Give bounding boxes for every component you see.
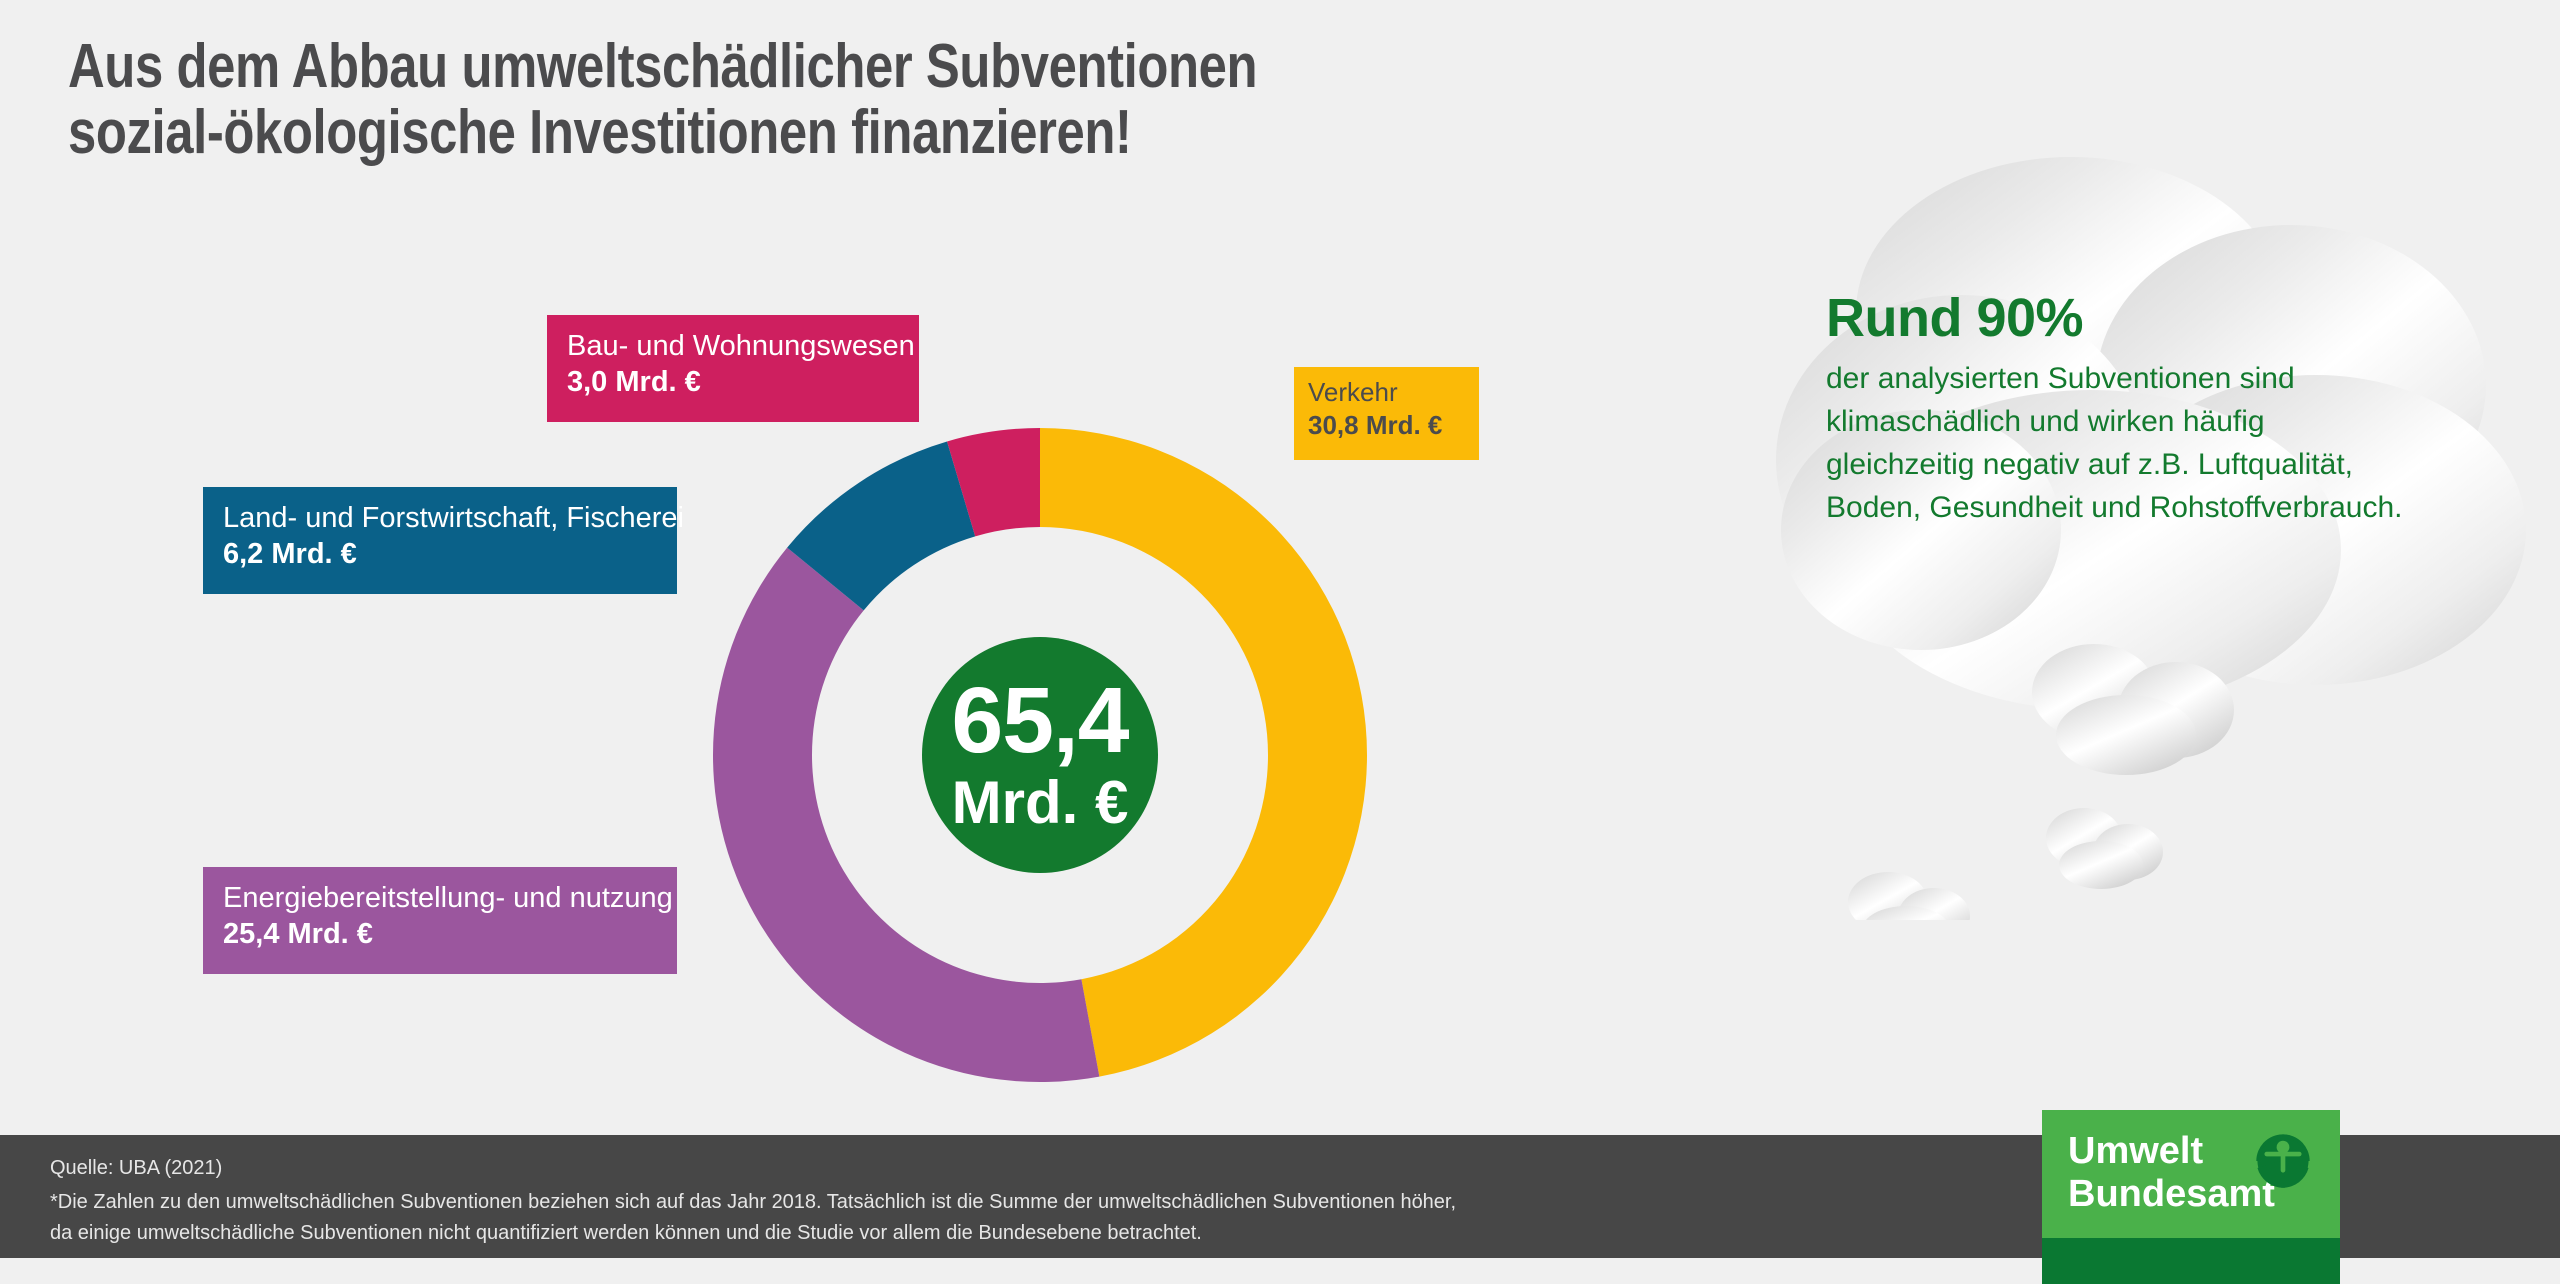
donut-chart: 65,4 Mrd. € — [700, 415, 1380, 1095]
bubble-body-line-2: klimaschädlich und wirken häufig — [1826, 400, 2436, 443]
thought-bubble-trail-cloud-3 — [1848, 872, 1970, 920]
legend-value-bau: 3,0 Mrd. € — [567, 365, 899, 399]
legend-value-verkehr: 30,8 Mrd. € — [1308, 410, 1465, 441]
bubble-body-line-3: gleichzeitig negativ auf z.B. Luftqualit… — [1826, 443, 2436, 486]
title-line-1: Aus dem Abbau umweltschädlicher Subventi… — [68, 34, 1478, 100]
legend-item-land-und-forstwirtschaft: Land- und Forstwirtschaft, Fischerei 6,2… — [203, 487, 677, 594]
bubble-body-line-1: der analysierten Subventionen sind — [1826, 357, 2436, 400]
bubble-headline: Rund 90% — [1826, 290, 2436, 347]
legend-label-verkehr: Verkehr — [1308, 377, 1465, 408]
bubble-body-line-4: Boden, Gesundheit und Rohstoffverbrauch. — [1826, 486, 2436, 529]
footer-note-line-2: da einige umweltschädliche Subventionen … — [50, 1218, 1456, 1250]
infographic-canvas: Aus dem Abbau umweltschädlicher Subventi… — [0, 0, 2560, 1284]
donut-chart-svg — [700, 415, 1380, 1095]
legend-value-land: 6,2 Mrd. € — [223, 537, 657, 571]
legend-value-energie: 25,4 Mrd. € — [223, 917, 657, 951]
legend-item-energiebereitstellung: Energiebereitstellung- und nutzung 25,4 … — [203, 867, 677, 974]
footer-source-note: Quelle: UBA (2021) *Die Zahlen zu den um… — [50, 1153, 1456, 1250]
thought-bubble-text: Rund 90% der analysierten Subventionen s… — [1826, 290, 2436, 529]
donut-center-circle — [922, 637, 1158, 873]
bubble-body: der analysierten Subventionen sind klima… — [1826, 357, 2436, 530]
umweltbundesamt-logo[interactable]: Umwelt Bundesamt — [2042, 1110, 2340, 1284]
thought-bubble-trail-cloud-2 — [2046, 808, 2163, 889]
legend-label-land: Land- und Forstwirtschaft, Fischerei — [223, 501, 657, 535]
logo-line-2: Bundesamt — [2068, 1173, 2275, 1216]
title-line-2: sozial-ökologische Investitionen finanzi… — [68, 100, 1478, 166]
footer-note-line-1: *Die Zahlen zu den umweltschädlichen Sub… — [50, 1187, 1456, 1219]
legend-item-bau-und-wohnungswesen: Bau- und Wohnungswesen 3,0 Mrd. € — [547, 315, 919, 422]
legend-item-verkehr: Verkehr 30,8 Mrd. € — [1294, 367, 1479, 460]
logo-wordmark: Umwelt Bundesamt — [2068, 1130, 2275, 1215]
footer-source: Quelle: UBA (2021) — [50, 1153, 1456, 1185]
logo-line-1: Umwelt — [2068, 1130, 2275, 1173]
legend-label-bau: Bau- und Wohnungswesen — [567, 329, 899, 363]
thought-bubble: Rund 90% der analysierten Subventionen s… — [1716, 130, 2546, 920]
legend-label-energie: Energiebereitstellung- und nutzung — [223, 881, 657, 915]
page-title: Aus dem Abbau umweltschädlicher Subventi… — [68, 34, 1478, 167]
umweltbundesamt-emblem-icon — [2254, 1132, 2312, 1190]
logo-dark-strip — [2042, 1238, 2340, 1284]
